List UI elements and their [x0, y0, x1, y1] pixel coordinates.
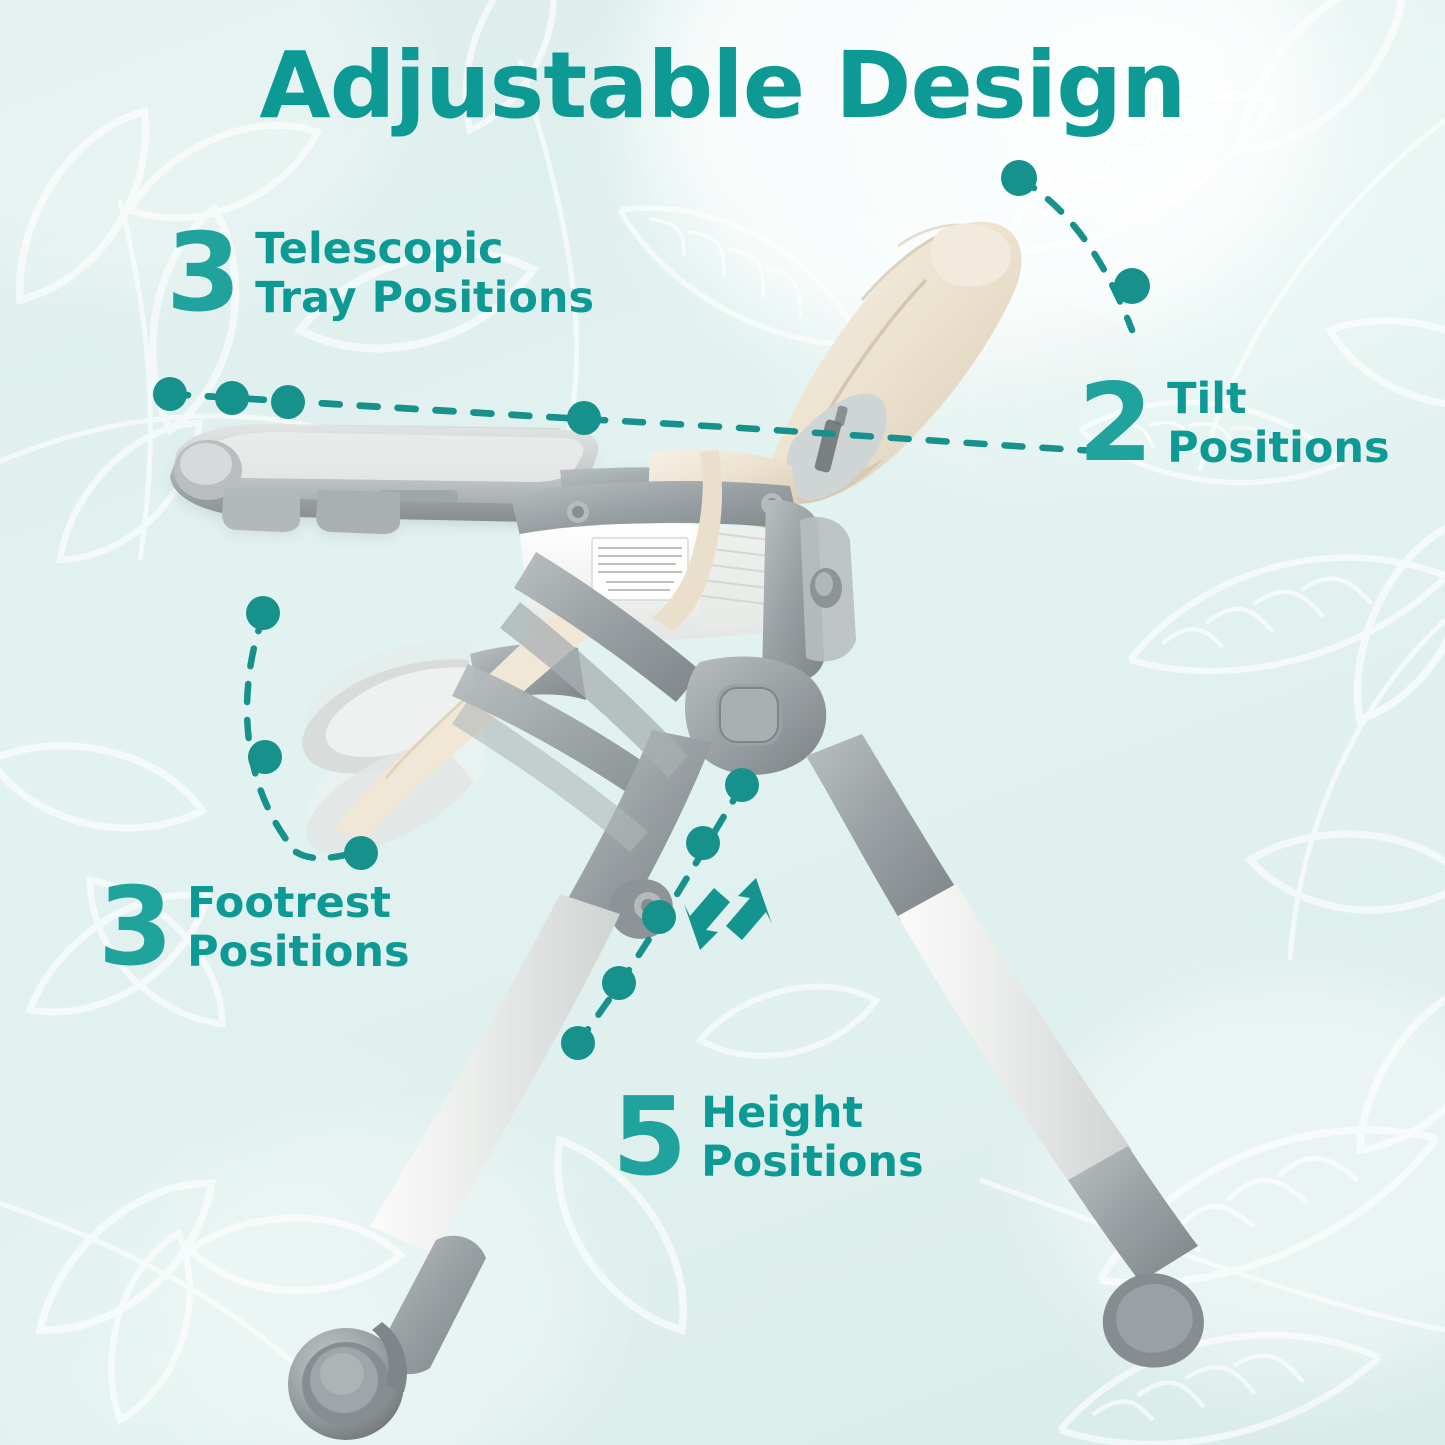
- callout-line2-tray: Tray Positions: [255, 273, 594, 323]
- callout-number-footrest: 3: [98, 878, 173, 977]
- care-label-tag: [592, 538, 688, 600]
- recline-lever: [810, 568, 842, 608]
- callout-label-tray: Telescopic Tray Positions: [255, 225, 594, 323]
- callout-line1-tray: Telescopic: [255, 224, 503, 274]
- callout-line2-height: Positions: [701, 1137, 923, 1187]
- center-hub-button: [685, 657, 826, 775]
- connector-dot: [642, 900, 676, 934]
- callout-footrest: 3 Footrest Positions: [98, 878, 410, 977]
- connector-dot: [246, 596, 280, 630]
- page-title: Adjustable Design: [0, 36, 1445, 135]
- callout-telescopic-tray: 3 Telescopic Tray Positions: [166, 224, 594, 323]
- connector-dot: [248, 740, 282, 774]
- callout-line1-footrest: Footrest: [187, 878, 391, 928]
- connector-dot: [1114, 268, 1150, 304]
- callout-label-footrest: Footrest Positions: [187, 879, 409, 977]
- callout-line1-height: Height: [701, 1088, 863, 1138]
- connector-dot: [1001, 160, 1037, 196]
- connector-dot: [725, 768, 759, 802]
- connector-dot: [686, 826, 720, 860]
- connector-dot: [567, 401, 601, 435]
- callout-line2-tilt: Positions: [1167, 423, 1389, 473]
- chair-frame: [288, 500, 1204, 1440]
- connector-dot: [153, 377, 187, 411]
- connector-dot: [344, 836, 378, 870]
- callout-number-tray: 3: [166, 224, 241, 323]
- double-arrow-updown-icon: [684, 878, 772, 950]
- callout-line2-footrest: Positions: [187, 927, 409, 977]
- callout-number-height: 5: [612, 1088, 687, 1187]
- connector-dot: [215, 381, 249, 415]
- connector-dot: [561, 1026, 595, 1060]
- callout-label-height: Height Positions: [701, 1089, 923, 1187]
- callout-number-tilt: 2: [1078, 374, 1153, 473]
- connector-dot: [271, 385, 305, 419]
- rear-leg: [806, 734, 1204, 1368]
- callout-height: 5 Height Positions: [612, 1088, 924, 1187]
- connector-dot: [602, 966, 636, 1000]
- callout-line1-tilt: Tilt: [1167, 374, 1246, 424]
- callout-tilt: 2 Tilt Positions: [1078, 374, 1390, 473]
- infographic-canvas: Adjustable Design 3 Telescopic Tray Posi…: [0, 0, 1445, 1445]
- callout-label-tilt: Tilt Positions: [1167, 375, 1389, 473]
